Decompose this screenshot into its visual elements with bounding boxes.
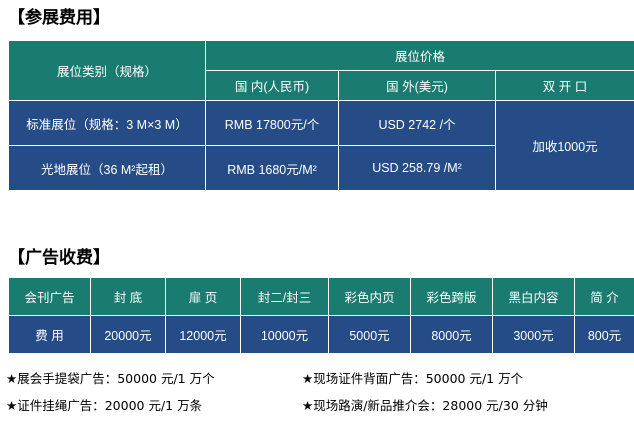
cell-overseas-standard-booth: USD 2742 /个 [339,101,496,146]
header-cell-domestic: 国 内(人民币) [206,71,339,101]
ads-value-cell-6: 3000元 [493,316,575,354]
header-cell-category: 展位类别（规格） [9,41,206,101]
ads-value-cell-7: 800元 [575,316,634,354]
ads-value-cell-4: 5000元 [329,316,411,354]
footnote-badge-back-ad: ★现场证件背面广告：50000 元/1 万个 [302,373,632,386]
footnote-tote-bag-ad: ★展会手提袋广告：50000 元/1 万个 [6,373,302,386]
ads-header-cell-0: 会刊广告 [9,278,91,316]
page-root: 【参展费用】 展位类别（规格） 展位价格 国 内(人民币) 国 外(美元) 双 … [0,0,634,424]
table-row-header: 会刊广告 封 底 扉 页 封二/封三 彩色内页 彩色跨版 黑白内容 简 介 [9,278,634,316]
footnote-lanyard-ad: ★证件挂绳广告：20000 元/1 万条 [6,400,302,413]
ads-value-cell-2: 12000元 [166,316,241,354]
cell-category-raw-space: 光地展位（36 M²起租） [9,146,206,191]
cell-domestic-standard-booth: RMB 17800元/个 [206,101,339,146]
ads-header-cell-5: 彩色跨版 [411,278,493,316]
cell-double-open-surcharge: 加收1000元 [496,101,634,191]
cell-category-standard-booth: 标准展位（规格：3 M×3 M） [9,101,206,146]
advertising-fees-table: 会刊广告 封 底 扉 页 封二/封三 彩色内页 彩色跨版 黑白内容 简 介 费 … [8,277,634,354]
footnote-roadshow-ad: ★现场路演/新品推介会：28000 元/30 分钟 [302,400,632,413]
exhibition-fees-table: 展位类别（规格） 展位价格 国 内(人民币) 国 外(美元) 双 开 口 标准展… [8,40,634,191]
footnotes: ★展会手提袋广告：50000 元/1 万个 ★现场证件背面广告：50000 元/… [6,366,634,420]
ads-header-cell-7: 简 介 [575,278,634,316]
ads-value-cell-0: 费 用 [9,316,91,354]
ads-value-cell-5: 8000元 [411,316,493,354]
ads-value-cell-1: 20000元 [91,316,166,354]
cell-overseas-raw-space: USD 258.79 /M² [339,146,496,191]
ads-value-cell-3: 10000元 [241,316,329,354]
ads-header-cell-3: 封二/封三 [241,278,329,316]
section-title-advertising-fees: 【广告收费】 [8,250,110,267]
ads-header-cell-2: 扉 页 [166,278,241,316]
footnote-row: ★展会手提袋广告：50000 元/1 万个 ★现场证件背面广告：50000 元/… [6,366,634,393]
table-row: 费 用 20000元 12000元 10000元 5000元 8000元 300… [9,316,634,354]
ads-header-cell-1: 封 底 [91,278,166,316]
header-cell-overseas: 国 外(美元) [339,71,496,101]
header-cell-price-group: 展位价格 [206,41,634,71]
ads-header-cell-4: 彩色内页 [329,278,411,316]
footnote-row: ★证件挂绳广告：20000 元/1 万条 ★现场路演/新品推介会：28000 元… [6,393,634,420]
table-row: 标准展位（规格：3 M×3 M） RMB 17800元/个 USD 2742 /… [9,101,634,146]
header-cell-double-open: 双 开 口 [496,71,634,101]
table-row-header-top: 展位类别（规格） 展位价格 [9,41,634,71]
cell-domestic-raw-space: RMB 1680元/M² [206,146,339,191]
section-title-exhibition-fees: 【参展费用】 [8,10,110,27]
ads-header-cell-6: 黑白内容 [493,278,575,316]
